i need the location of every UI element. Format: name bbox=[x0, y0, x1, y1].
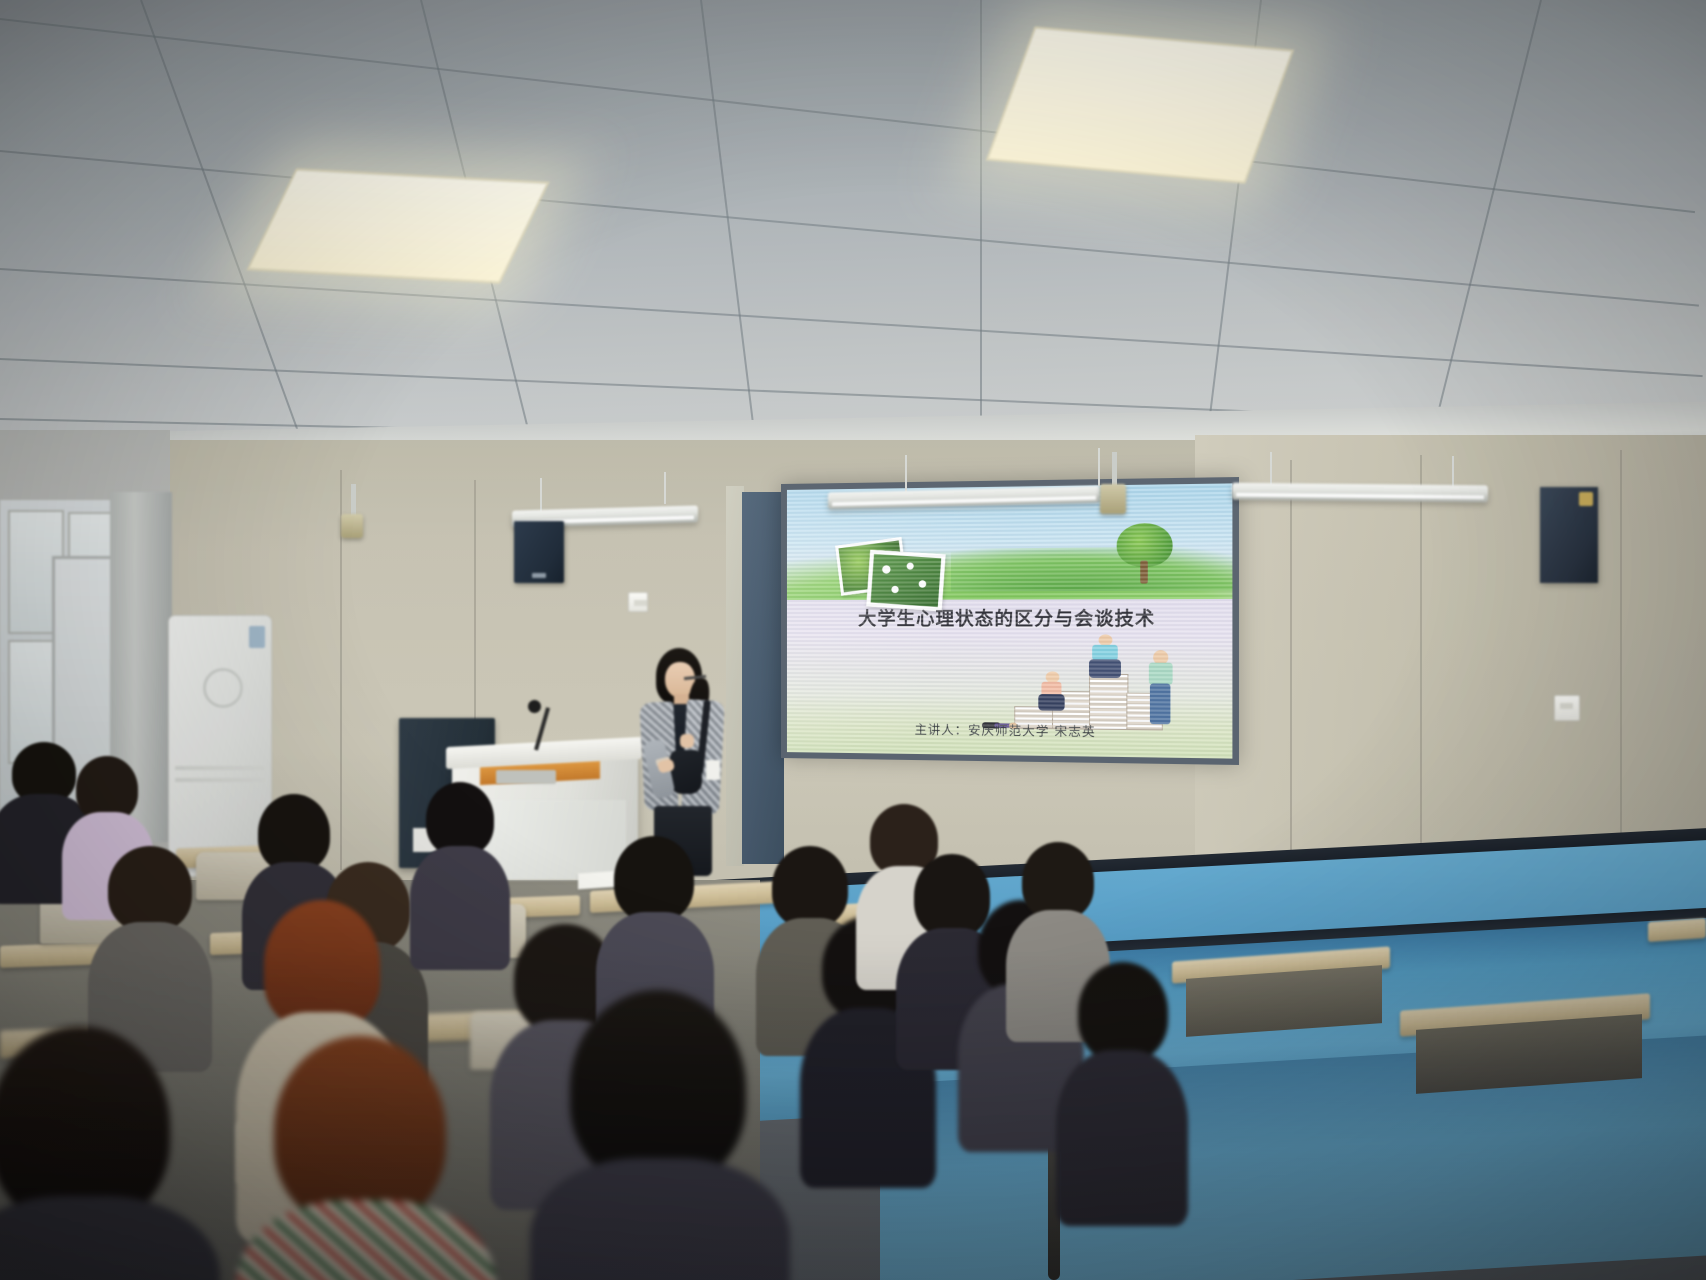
hanging-light-bar-right bbox=[1232, 483, 1488, 503]
ceiling-light-panel-right bbox=[986, 26, 1294, 183]
ac-vent bbox=[175, 778, 265, 782]
screen-side-jamb bbox=[742, 492, 784, 864]
tree-trunk bbox=[1140, 560, 1148, 583]
audience-member bbox=[88, 846, 212, 1046]
head bbox=[614, 836, 694, 922]
slide-illustration bbox=[978, 634, 1186, 733]
head bbox=[1022, 842, 1094, 920]
ac-vent bbox=[175, 766, 265, 770]
torso bbox=[530, 1158, 790, 1280]
id-badge-icon bbox=[706, 760, 720, 780]
head bbox=[570, 990, 746, 1186]
head bbox=[1078, 962, 1168, 1062]
projector-icon bbox=[341, 514, 363, 538]
head bbox=[426, 782, 494, 856]
light-hanger-rod bbox=[664, 472, 666, 504]
photo-sticker-image bbox=[871, 554, 942, 607]
audience-member bbox=[410, 782, 510, 942]
ac-dial-icon bbox=[203, 668, 243, 708]
audience-member-foreground bbox=[540, 990, 780, 1280]
projector-icon bbox=[1100, 484, 1126, 514]
light-hanger-rod bbox=[540, 478, 542, 512]
slide-figure-seated-top bbox=[1085, 635, 1127, 680]
microphone-icon bbox=[528, 700, 541, 713]
slide-figure-seated-left bbox=[1035, 671, 1072, 710]
slide-figure-standing-right bbox=[1143, 650, 1181, 729]
slide-hill-secondary bbox=[951, 546, 1232, 591]
wall-outlet-icon[interactable] bbox=[1554, 695, 1580, 721]
torso bbox=[0, 1196, 220, 1280]
ceiling-tile-grid bbox=[0, 0, 1706, 470]
head bbox=[264, 900, 380, 1028]
ac-label bbox=[249, 626, 265, 648]
slide-title: 大学生心理状态的区分与会谈技术 bbox=[787, 604, 1232, 631]
head bbox=[274, 1036, 446, 1226]
projection-screen: 大学生心理状态的区分与会谈技术 主讲人：安庆师范大学 宋志英 bbox=[781, 477, 1239, 765]
slide-surface: 大学生心理状态的区分与会谈技术 主讲人：安庆师范大学 宋志英 bbox=[787, 483, 1232, 758]
photo-sticker-icon bbox=[866, 550, 945, 612]
wall-speaker-right bbox=[1540, 487, 1598, 583]
projector-mount-arm bbox=[351, 484, 356, 516]
speaker-tag bbox=[1579, 492, 1593, 506]
classroom-photo: 大学生心理状态的区分与会谈技术 主讲人：安庆师范大学 宋志英 bbox=[0, 0, 1706, 1280]
wall-seam bbox=[1420, 455, 1422, 885]
projector-mount-arm bbox=[1112, 452, 1117, 486]
audience-member bbox=[1056, 962, 1188, 1192]
torso bbox=[1056, 1050, 1188, 1226]
wall-switch-icon[interactable] bbox=[628, 592, 648, 612]
tree-icon bbox=[1116, 523, 1172, 582]
wall-speaker-left bbox=[514, 521, 564, 583]
wall-seam bbox=[1290, 460, 1292, 880]
shoulder-bag bbox=[670, 750, 702, 794]
head bbox=[258, 794, 330, 872]
head bbox=[108, 846, 192, 932]
audience-member-foreground bbox=[250, 1036, 480, 1280]
light-hanger-rod bbox=[1098, 448, 1100, 486]
presenter-hand-right bbox=[680, 734, 694, 748]
ceiling-light-panel-left bbox=[246, 168, 549, 284]
ceiling bbox=[0, 0, 1706, 470]
light-hanger-rod bbox=[905, 455, 907, 493]
desk bbox=[1648, 918, 1706, 942]
audience-member-foreground bbox=[0, 1026, 210, 1280]
wall-seam bbox=[1620, 450, 1622, 890]
torso bbox=[236, 1200, 496, 1280]
